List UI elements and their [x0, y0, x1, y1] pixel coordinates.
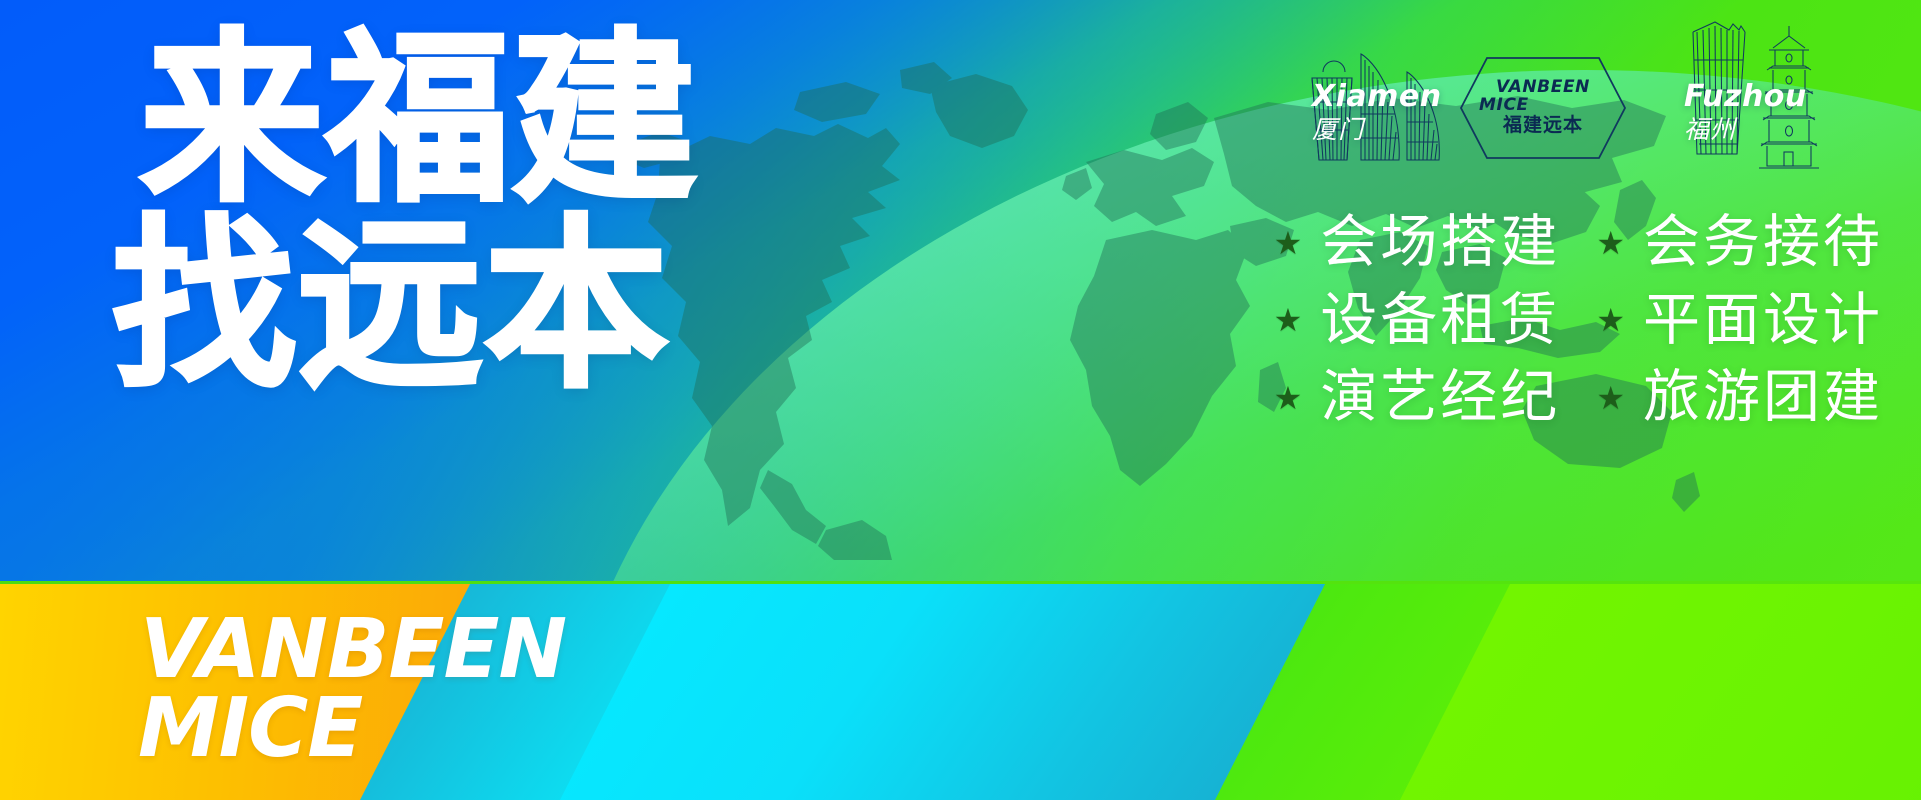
wordmark-line-1: VANBEEN — [140, 611, 566, 690]
service-item: ★ 旅游团建 — [1596, 363, 1883, 433]
star-icon: ★ — [1596, 304, 1625, 336]
panel-divider — [0, 581, 1921, 584]
banner-top-panel: 来福建 找远本 ★ 会场搭建 ★ 会务接待 ★ 设备租赁 ★ 平面设计 ★ — [0, 0, 1921, 581]
city-name-cn: 厦门 — [1312, 115, 1442, 145]
badge-line-1: VANBEEN — [1496, 79, 1590, 96]
badge-line-2: MICE — [1479, 97, 1529, 114]
service-label: 平面设计 — [1643, 286, 1883, 356]
service-label: 会场搭建 — [1320, 208, 1560, 278]
service-item: ★ 会务接待 — [1596, 208, 1883, 278]
hex-badge-text: VANBEEN MICE 福建远本 — [1457, 54, 1629, 162]
city-logo-lockup: Xiamen 厦门 Fuzhou 福州 VANBEEN MICE 福建远本 — [1297, 4, 1917, 184]
star-icon: ★ — [1596, 382, 1625, 414]
service-item: ★ 演艺经纪 — [1274, 363, 1561, 433]
service-item: ★ 平面设计 — [1596, 286, 1883, 356]
service-label: 演艺经纪 — [1320, 363, 1560, 433]
headline-line-2: 找远本 — [112, 216, 698, 396]
city-label-fuzhou: Fuzhou 福州 — [1684, 82, 1807, 145]
city-label-xiamen: Xiamen 厦门 — [1312, 82, 1442, 145]
promo-banner: 来福建 找远本 ★ 会场搭建 ★ 会务接待 ★ 设备租赁 ★ 平面设计 ★ — [0, 0, 1921, 800]
service-item: ★ 设备租赁 — [1274, 286, 1561, 356]
banner-bottom-bar: VANBEEN MICE — [0, 581, 1921, 800]
service-label: 旅游团建 — [1643, 363, 1883, 433]
service-label: 会务接待 — [1643, 208, 1883, 278]
city-name-cn: 福州 — [1684, 115, 1807, 145]
vanbeen-hex-badge: VANBEEN MICE 福建远本 — [1457, 54, 1629, 162]
city-name-en: Xiamen — [1312, 82, 1442, 112]
star-icon: ★ — [1596, 227, 1625, 259]
badge-line-3: 福建远本 — [1503, 115, 1583, 137]
star-icon: ★ — [1274, 382, 1303, 414]
wordmark-line-2: MICE — [138, 690, 566, 769]
vanbeen-mice-wordmark: VANBEEN MICE — [140, 611, 566, 768]
headline: 来福建 找远本 — [112, 30, 698, 397]
services-list: ★ 会场搭建 ★ 会务接待 ★ 设备租赁 ★ 平面设计 ★ 演艺经纪 ★ 旅游团 — [1274, 208, 1883, 433]
headline-line-1: 来福建 — [140, 30, 698, 210]
star-icon: ★ — [1274, 227, 1303, 259]
city-name-en: Fuzhou — [1684, 82, 1807, 112]
star-icon: ★ — [1274, 304, 1303, 336]
service-item: ★ 会场搭建 — [1274, 208, 1561, 278]
service-label: 设备租赁 — [1320, 286, 1560, 356]
